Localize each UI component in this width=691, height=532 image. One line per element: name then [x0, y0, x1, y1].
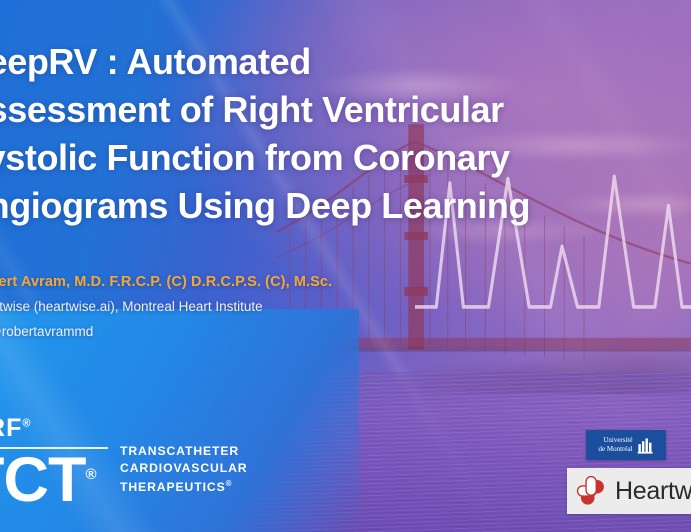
- page-title: DeepRV : Automated Assessment of Right V…: [0, 38, 642, 230]
- author-name: Robert Avram, M.D. F.R.C.P. (C) D.R.C.P.…: [0, 274, 610, 290]
- udem-building-icon: [637, 437, 654, 454]
- tct-crf-logo: CRF® TCT® TRANSCATHETER CARDIOVASCULAR T…: [0, 416, 247, 510]
- tct-registered-mark: ®: [85, 466, 95, 483]
- social-handle-text: @robertavrammd: [0, 324, 93, 339]
- byline: Robert Avram, M.D. F.R.C.P. (C) D.R.C.P.…: [0, 274, 610, 339]
- tct-subtitle-registered-mark: ®: [226, 479, 233, 488]
- tct-logo-text: TCT®: [0, 452, 108, 510]
- heartwise-logo: Heartwise: [567, 468, 691, 514]
- universite-de-montreal-logo: Université de Montréal: [586, 430, 666, 460]
- crf-logo-text: CRF®: [0, 416, 108, 441]
- heartwise-logo-text: Heartwise: [615, 477, 691, 506]
- udem-logo-text: Université de Montréal: [598, 436, 632, 454]
- crf-registered-mark: ®: [22, 418, 31, 430]
- presentation-title-slide: DeepRV : Automated Assessment of Right V…: [0, 0, 691, 532]
- heartwise-cross-icon: [575, 474, 609, 508]
- author-affiliation: Heartwise (heartwise.ai), Montreal Heart…: [0, 299, 610, 314]
- social-handle: @robertavrammd: [0, 324, 610, 339]
- tct-logo-subtitle: TRANSCATHETER CARDIOVASCULAR THERAPEUTIC…: [108, 443, 247, 510]
